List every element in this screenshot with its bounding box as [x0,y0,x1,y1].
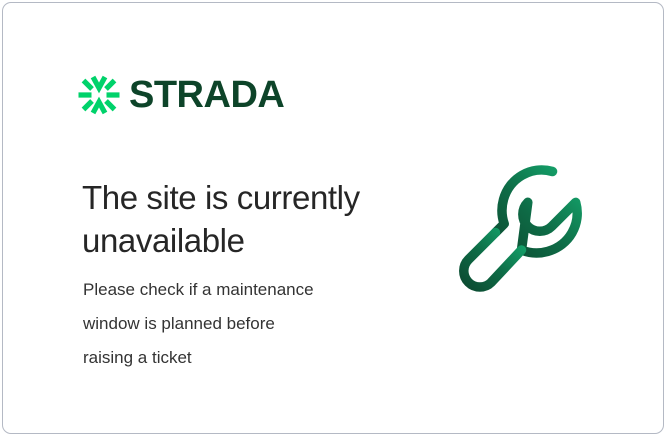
description-line: window is planned before [83,307,393,341]
wrench-icon [455,153,615,313]
brand-logo: STRADA [77,69,284,121]
status-card: STRADA The site is currently unavailable… [2,2,664,434]
page-title: The site is currently unavailable [82,176,412,262]
strada-asterisk-icon [77,73,121,117]
brand-wordmark: STRADA [129,76,284,114]
error-page: STRADA The site is currently unavailable… [0,0,666,436]
description-line: Please check if a maintenance [83,273,393,307]
page-description: Please check if a maintenance window is … [83,273,393,375]
description-line: raising a ticket [83,341,393,375]
